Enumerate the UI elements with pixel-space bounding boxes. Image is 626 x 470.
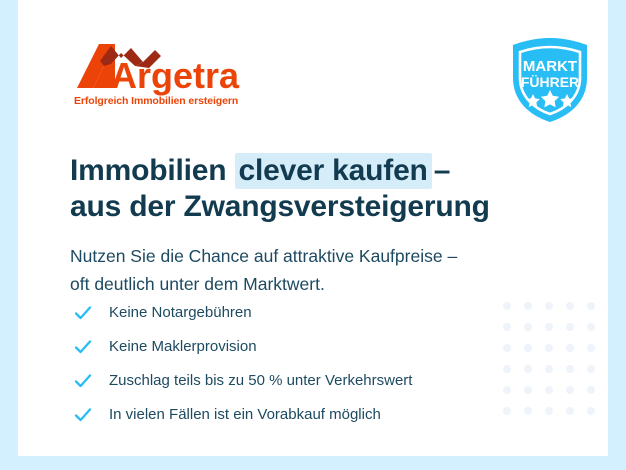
subheadline-line-1: Nutzen Sie die Chance auf attraktive Kau… — [70, 242, 457, 270]
dot — [503, 365, 511, 373]
dot — [524, 407, 532, 415]
list-item: In vielen Fällen ist ein Vorabkauf mögli… — [73, 400, 412, 430]
benefits-list: Keine Notargebühren Keine Maklerprovisio… — [73, 298, 412, 434]
dot — [545, 407, 553, 415]
subheadline-line-2: oft deutlich unter dem Marktwert. — [70, 270, 457, 298]
dot — [566, 323, 574, 331]
dot — [587, 386, 595, 394]
markt-fuehrer-badge: MARKT FÜHRER — [507, 36, 593, 124]
dot — [587, 323, 595, 331]
dot — [566, 344, 574, 352]
subheadline: Nutzen Sie die Chance auf attraktive Kau… — [70, 242, 457, 298]
list-item-label: In vielen Fällen ist ein Vorabkauf mögli… — [109, 405, 381, 425]
list-item: Keine Maklerprovision — [73, 332, 412, 362]
check-icon — [73, 303, 93, 323]
list-item-label: Keine Notargebühren — [109, 303, 252, 323]
dot — [587, 365, 595, 373]
dot — [566, 365, 574, 373]
check-icon — [73, 337, 93, 357]
headline-line-1: Immobilien clever kaufen– — [70, 153, 490, 189]
dot — [566, 302, 574, 310]
check-icon — [73, 405, 93, 425]
dot — [545, 323, 553, 331]
headline: Immobilien clever kaufen– aus der Zwangs… — [70, 153, 490, 225]
dot — [524, 365, 532, 373]
headline-highlight: clever kaufen — [235, 153, 432, 189]
dot — [503, 323, 511, 331]
headline-text-before: Immobilien — [70, 154, 235, 187]
dot — [524, 344, 532, 352]
dot — [545, 302, 553, 310]
dot — [503, 344, 511, 352]
promo-banner: Argetra Erfolgreich Immobilien ersteiger… — [0, 0, 626, 470]
banner-panel: Argetra Erfolgreich Immobilien ersteiger… — [18, 0, 608, 456]
dot — [587, 344, 595, 352]
list-item-label: Keine Maklerprovision — [109, 337, 257, 357]
dot — [524, 323, 532, 331]
dot — [566, 386, 574, 394]
dot — [503, 302, 511, 310]
dot — [524, 302, 532, 310]
list-item-label: Zuschlag teils bis zu 50 % unter Verkehr… — [109, 371, 412, 391]
logo-tagline: Erfolgreich Immobilien ersteigern — [74, 95, 238, 107]
logo-wordmark: Argetra — [111, 55, 240, 96]
headline-line-2: aus der Zwangsversteigerung — [70, 189, 490, 225]
argetra-logo[interactable]: Argetra Erfolgreich Immobilien ersteiger… — [73, 40, 273, 110]
badge-line-2: FÜHRER — [521, 74, 579, 90]
check-icon — [73, 371, 93, 391]
dot — [587, 407, 595, 415]
dot — [545, 386, 553, 394]
badge-line-1: MARKT — [523, 58, 577, 75]
headline-dash: – — [432, 154, 451, 187]
dot — [587, 302, 595, 310]
list-item: Zuschlag teils bis zu 50 % unter Verkehr… — [73, 366, 412, 396]
dot — [503, 386, 511, 394]
dot — [503, 407, 511, 415]
list-item: Keine Notargebühren — [73, 298, 412, 328]
dot — [524, 386, 532, 394]
dot — [545, 344, 553, 352]
dot — [545, 365, 553, 373]
dot — [566, 407, 574, 415]
dot-grid-decoration — [503, 302, 608, 428]
